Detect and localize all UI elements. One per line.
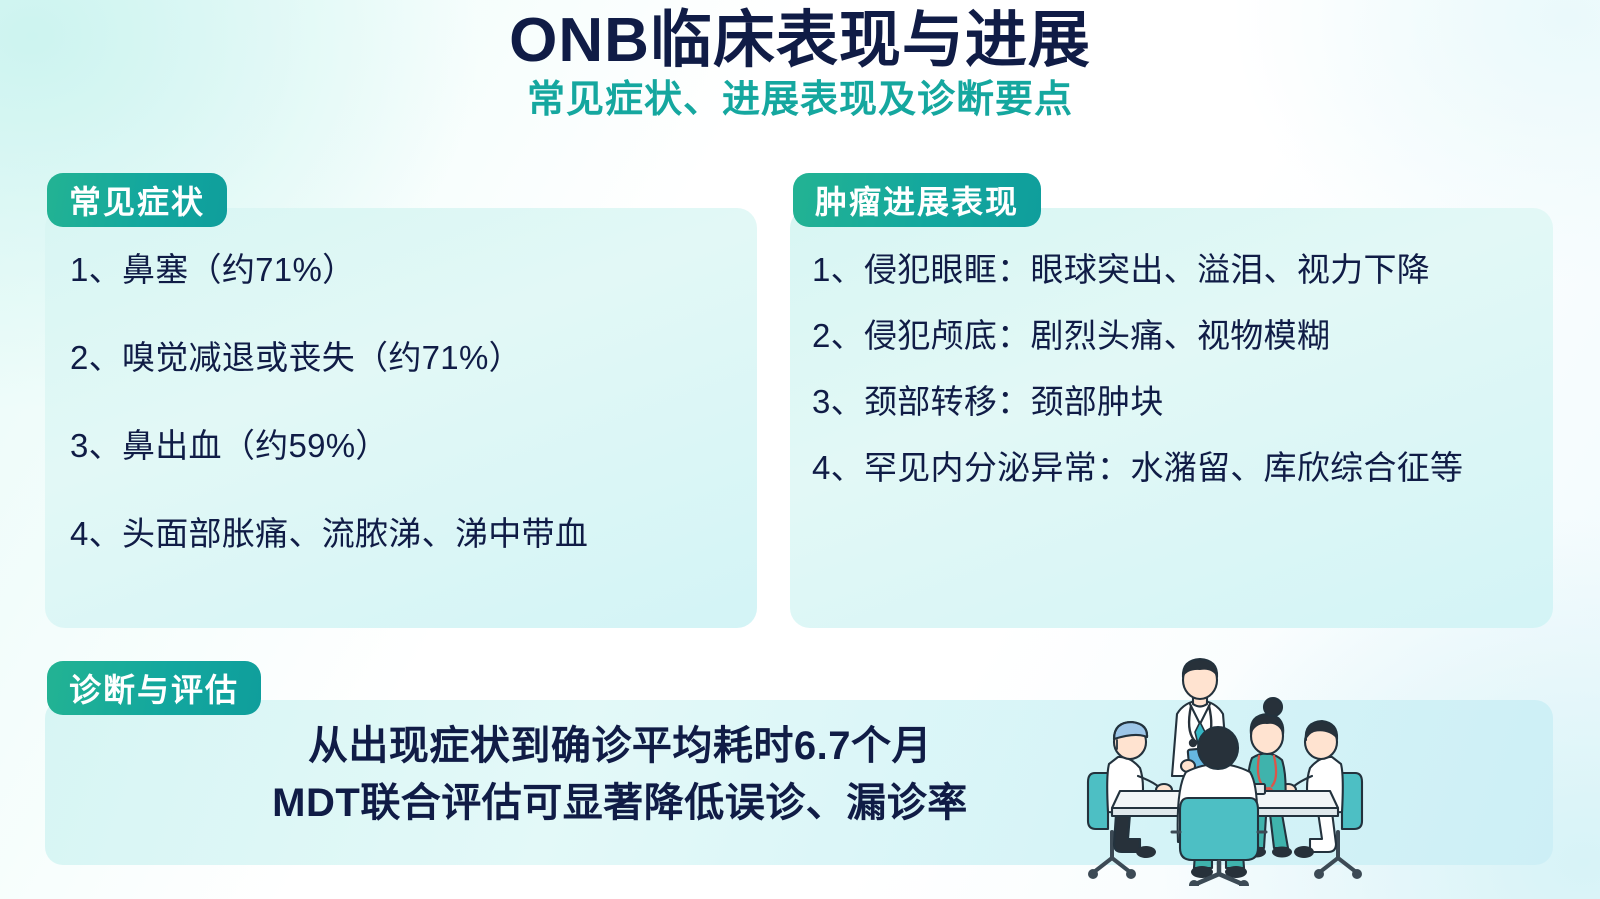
list-item-label: 侵犯颅底：剧烈头痛、视物模糊: [864, 314, 1537, 358]
list-item-number: 2、: [70, 336, 122, 380]
list-item-number: 4、: [812, 446, 864, 490]
list-item-number: 2、: [812, 314, 864, 358]
badge-tumour-progression: 肿瘤进展表现: [793, 173, 1041, 227]
diagnosis-line: MDT联合评估可显著降低误诊、漏诊率: [210, 775, 1030, 832]
list-item-label: 侵犯眼眶：眼球突出、溢泪、视力下降: [864, 248, 1537, 292]
list-item: 4、 罕见内分泌异常：水潴留、库欣综合征等: [812, 446, 1537, 490]
page-subtitle: 常见症状、进展表现及诊断要点: [0, 79, 1600, 123]
list-item: 3、 颈部转移：颈部肿块: [812, 380, 1537, 424]
mdt-team-meeting-illustration: [1060, 636, 1390, 886]
list-item-label: 罕见内分泌异常：水潴留、库欣综合征等: [864, 446, 1537, 490]
list-item: 1、 鼻塞（约71%）: [70, 248, 735, 292]
list-item-number: 3、: [812, 380, 864, 424]
list-item-label: 头面部胀痛、流脓涕、涕中带血: [122, 512, 735, 556]
list-item-label: 嗅觉减退或丧失（约71%）: [122, 336, 735, 380]
list-item: 1、 侵犯眼眶：眼球突出、溢泪、视力下降: [812, 248, 1537, 292]
list-item-number: 1、: [70, 248, 122, 292]
list-item-number: 1、: [812, 248, 864, 292]
list-item-number: 4、: [70, 512, 122, 556]
diagnosis-line: 从出现症状到确诊平均耗时6.7个月: [210, 718, 1030, 775]
badge-diagnosis-evaluation: 诊断与评估: [47, 661, 261, 715]
slide-header: ONB临床表现与进展 常见症状、进展表现及诊断要点: [0, 6, 1600, 123]
list-item-label: 颈部转移：颈部肿块: [864, 380, 1537, 424]
list-item: 3、 鼻出血（约59%）: [70, 424, 735, 468]
badge-common-symptoms: 常见症状: [47, 173, 227, 227]
list-common-symptoms: 1、 鼻塞（约71%） 2、 嗅觉减退或丧失（约71%） 3、 鼻出血（约59%…: [70, 248, 735, 556]
list-item: 2、 嗅觉减退或丧失（约71%）: [70, 336, 735, 380]
list-item: 4、 头面部胀痛、流脓涕、涕中带血: [70, 512, 735, 556]
list-item: 2、 侵犯颅底：剧烈头痛、视物模糊: [812, 314, 1537, 358]
list-item-label: 鼻塞（约71%）: [122, 248, 735, 292]
page-title: ONB临床表现与进展: [0, 6, 1600, 75]
list-tumour-progression: 1、 侵犯眼眶：眼球突出、溢泪、视力下降 2、 侵犯颅底：剧烈头痛、视物模糊 3…: [812, 248, 1537, 490]
list-item-number: 3、: [70, 424, 122, 468]
list-item-label: 鼻出血（约59%）: [122, 424, 735, 468]
slide-root: ONB临床表现与进展 常见症状、进展表现及诊断要点 常见症状 1、 鼻塞（约71…: [0, 0, 1600, 899]
diagnosis-summary-text: 从出现症状到确诊平均耗时6.7个月 MDT联合评估可显著降低误诊、漏诊率: [210, 718, 1030, 832]
